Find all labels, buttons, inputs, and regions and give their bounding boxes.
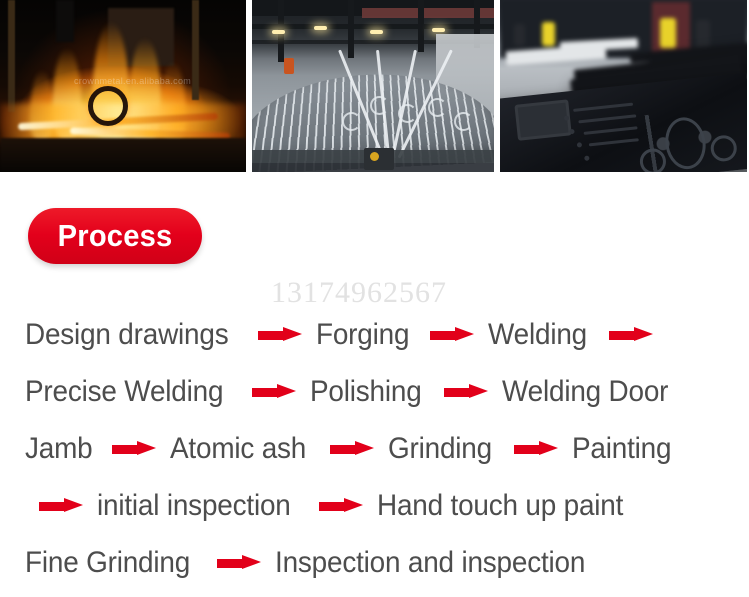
process-badge-label: Process	[58, 218, 173, 254]
process-step: Atomic ash	[170, 432, 306, 466]
scroll-ornament	[454, 112, 473, 131]
worker-dark-shirt	[696, 20, 710, 48]
flow-line-2: Precise WeldingPolishingWelding Door	[0, 363, 749, 420]
right-arrow-icon	[217, 555, 261, 570]
door-window-cutout	[514, 99, 571, 140]
process-badge: Process	[28, 208, 202, 264]
flow-line-5: Fine GrindingInspection and inspection	[0, 534, 749, 591]
arrow-shaft	[514, 445, 542, 454]
right-arrow-icon	[319, 498, 363, 513]
arrow-shaft	[217, 559, 245, 568]
ornament-scroll	[709, 133, 739, 163]
door-stud	[577, 142, 582, 147]
worker-yellow-shirt	[542, 22, 555, 46]
right-arrow-icon	[112, 441, 156, 456]
arrow-shaft	[39, 502, 67, 511]
arrow-shaft	[252, 388, 280, 397]
arrow-shaft	[330, 445, 358, 454]
process-step: Fine Grinding	[25, 546, 190, 580]
arrow-head	[469, 384, 488, 398]
process-flow: Design drawingsForgingWeldingPrecise Wel…	[0, 306, 749, 591]
right-arrow-icon	[39, 498, 83, 513]
arrow-head	[455, 327, 474, 341]
ceiling-lamp	[314, 26, 327, 30]
door-stud	[584, 155, 589, 160]
arrow-shaft	[444, 388, 472, 397]
arrow-shaft	[609, 331, 637, 340]
process-step: Polishing	[310, 375, 422, 409]
arrow-head	[283, 327, 302, 341]
roof-beam	[252, 24, 494, 29]
process-step: Jamb	[25, 432, 92, 466]
door-ornament-panel	[627, 102, 741, 172]
photo-watermark: crownmetal.en.alibaba.com	[74, 76, 204, 88]
process-step: Welding Door	[502, 375, 668, 409]
black-doors-photo	[500, 0, 747, 172]
flow-line-1: Design drawingsForgingWelding	[0, 306, 749, 363]
right-arrow-icon	[252, 384, 296, 399]
roof-column	[348, 0, 354, 58]
arrow-head	[242, 555, 261, 569]
process-step: Painting	[572, 432, 671, 466]
workshop-arch-frames-photo	[252, 0, 494, 172]
arrow-head	[137, 441, 156, 455]
workshop-machine	[364, 148, 394, 170]
arrow-shaft	[430, 331, 458, 340]
worker-silhouette	[56, 0, 74, 42]
arrow-head	[355, 441, 374, 455]
flow-line-4: initial inspectionHand touch up paint	[0, 477, 749, 534]
support-post-left	[8, 0, 15, 112]
right-arrow-icon	[444, 384, 488, 399]
flow-line-3: JambAtomic ashGrindingPainting	[0, 420, 749, 477]
process-step: Inspection and inspection	[275, 546, 585, 580]
arrow-head	[344, 498, 363, 512]
ornament-ellipse	[662, 114, 710, 172]
process-step: Hand touch up paint	[377, 489, 623, 523]
arrow-head	[277, 384, 296, 398]
process-step: Forging	[316, 318, 409, 352]
forge-trough	[0, 138, 246, 172]
worker-figure	[284, 58, 294, 74]
right-arrow-icon	[258, 327, 302, 342]
process-step: Welding	[488, 318, 587, 352]
worker-yellow-shirt	[660, 18, 676, 48]
arrow-head	[634, 327, 653, 341]
scroll-ornament	[370, 96, 389, 115]
photo-strip: crownmetal.en.alibaba.com	[0, 0, 749, 172]
machine-reel	[370, 152, 379, 161]
worker-dark-shirt	[514, 24, 525, 46]
process-step: Precise Welding	[25, 375, 223, 409]
arrow-head	[64, 498, 83, 512]
door-stud	[569, 129, 574, 134]
right-arrow-icon	[609, 327, 653, 342]
ceiling-lamp	[272, 30, 285, 34]
phone-number-watermark: 13174962567	[271, 276, 447, 310]
forging-furnace-photo: crownmetal.en.alibaba.com	[0, 0, 246, 172]
arrow-head	[539, 441, 558, 455]
arrow-shaft	[258, 331, 286, 340]
right-arrow-icon	[514, 441, 558, 456]
ceiling-lamp	[370, 30, 383, 34]
process-step: initial inspection	[97, 489, 291, 523]
door-slit	[573, 103, 633, 112]
forged-scroll-piece	[88, 86, 128, 126]
process-step: Design drawings	[25, 318, 228, 352]
scroll-ornament	[398, 104, 417, 123]
ornament-scroll	[638, 147, 668, 172]
process-step: Grinding	[388, 432, 492, 466]
scroll-ornament	[342, 112, 361, 131]
ceiling-lamp	[432, 28, 445, 32]
right-arrow-icon	[330, 441, 374, 456]
arrow-shaft	[112, 445, 140, 454]
roof-column	[418, 0, 424, 52]
right-arrow-icon	[430, 327, 474, 342]
arrow-shaft	[319, 502, 347, 511]
scroll-ornament	[428, 98, 447, 117]
